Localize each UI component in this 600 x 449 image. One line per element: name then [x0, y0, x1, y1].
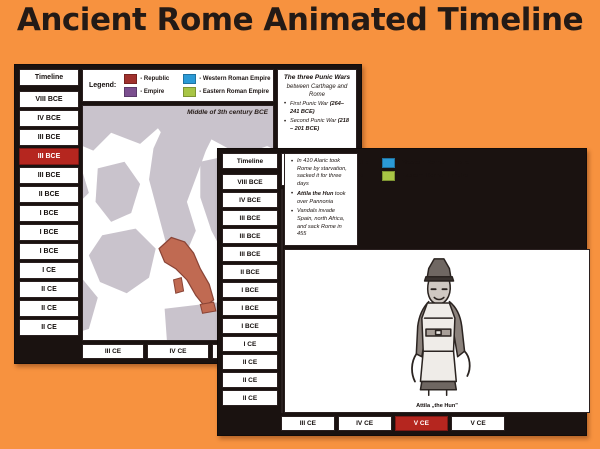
legend-item-empire: - Empire — [124, 87, 169, 97]
back-legend: Legend: - Republic - Empire — [82, 69, 274, 102]
back-note-text: First Punic War — [290, 101, 330, 107]
legend-swatch-empire — [124, 87, 137, 97]
back-timeline-chip[interactable]: III BCE — [19, 167, 79, 184]
back-note-text: Second Punic War — [290, 118, 338, 124]
back-timeline-chip[interactable]: VIII BCE — [19, 91, 79, 108]
back-legend-groups: - Republic - Empire - Western Roman Empi… — [124, 74, 270, 97]
front-axis-row: III CEIV CEV CEV CE — [281, 416, 582, 431]
front-note-bold: Attila the Hun — [297, 191, 333, 197]
back-timeline-chip[interactable]: IV BCE — [19, 110, 79, 127]
front-axis-chip[interactable]: IV CE — [338, 416, 392, 431]
back-timeline-chip-active[interactable]: III BCE — [19, 148, 79, 165]
front-timeline-chip[interactable]: III BCE — [222, 210, 278, 226]
front-timeline-chip[interactable]: II CE — [222, 390, 278, 406]
attila-portrait-icon — [287, 252, 587, 401]
front-map-panel[interactable]: First half of the 5th century — [281, 189, 283, 413]
front-right-column: In 410 Alaric took Rome by starvation, s… — [284, 153, 590, 413]
front-axis-chip[interactable]: III CE — [281, 416, 335, 431]
front-notes-panel: In 410 Alaric took Rome by starvation, s… — [284, 153, 358, 246]
slide-front[interactable]: Timeline VIII BCEIV BCEIII BCEIII BCEIII… — [217, 148, 587, 436]
front-upper-area: Legend: - Republic - Empire — [281, 153, 582, 413]
front-timeline-chip[interactable]: I BCE — [222, 300, 278, 316]
back-axis-chip[interactable]: IV CE — [147, 344, 209, 359]
back-legend-group-left: - Republic - Empire — [124, 74, 169, 97]
back-timeline-list: VIII BCEIV BCEIII BCEIII BCEIII BCEII BC… — [19, 91, 79, 336]
back-timeline-chip[interactable]: I BCE — [19, 205, 79, 222]
back-notes-heading: The three Punic Wars — [283, 74, 351, 83]
front-portrait-box: Attila „the Hun" — [284, 249, 590, 413]
back-map-caption: Middle of 3th century BCE — [187, 109, 268, 116]
back-legend-title: Legend: — [89, 82, 116, 89]
back-axis-chip[interactable]: III CE — [82, 344, 144, 359]
front-timeline-chip[interactable]: II CE — [222, 354, 278, 370]
back-notes-subheading: between Carthage and Rome — [283, 83, 351, 99]
front-timeline-chip[interactable]: VIII BCE — [222, 174, 278, 190]
back-timeline-chip[interactable]: II CE — [19, 319, 79, 336]
front-note-text: In 410 Alaric took Rome by starvation, s… — [297, 158, 347, 187]
front-timeline-header: Timeline — [222, 153, 278, 169]
legend-item-republic: - Republic — [124, 74, 169, 84]
front-note-item: Attila the Hun took over Pannonia — [297, 191, 352, 206]
back-note-item: First Punic War (264– 241 BCE) — [290, 101, 351, 116]
front-timeline-chip[interactable]: II BCE — [222, 264, 278, 280]
back-timeline-header: Timeline — [19, 69, 79, 86]
front-timeline-chip[interactable]: I BCE — [222, 318, 278, 334]
front-axis-chip[interactable]: V CE — [451, 416, 505, 431]
front-axis-chip-active[interactable]: V CE — [395, 416, 449, 431]
front-timeline-chip[interactable]: II CE — [222, 372, 278, 388]
back-notes-list: First Punic War (264– 241 BCE) Second Pu… — [283, 101, 351, 134]
back-timeline-chip[interactable]: I BCE — [19, 243, 79, 260]
legend-item-eastern-roman-empire: - Eastern Roman Empire — [183, 87, 270, 97]
back-timeline-chip[interactable]: I BCE — [19, 224, 79, 241]
front-portrait-caption: Attila „the Hun" — [416, 401, 458, 410]
legend-label-eastern-roman-empire: - Eastern Roman Empire — [199, 89, 269, 95]
legend-swatch-eastern-roman-empire — [183, 87, 196, 97]
legend-label-western-roman-empire: - Western Roman Empire — [199, 76, 270, 82]
legend-label-republic: - Republic — [140, 76, 169, 82]
front-timeline-chip[interactable]: III BCE — [222, 228, 278, 244]
legend-swatch-western-roman-empire — [183, 74, 196, 84]
front-notes-list: In 410 Alaric took Rome by starvation, s… — [290, 158, 352, 239]
front-timeline-chip[interactable]: III BCE — [222, 246, 278, 262]
front-timeline-list: VIII BCEIV BCEIII BCEIII BCEIII BCEII BC… — [222, 174, 278, 406]
front-axis-chips: III CEIV CEV CEV CE — [281, 416, 505, 431]
front-timeline-chip[interactable]: I BCE — [222, 282, 278, 298]
front-note-item: In 410 Alaric took Rome by starvation, s… — [297, 158, 352, 189]
legend-label-empire: - Empire — [140, 89, 164, 95]
page-title: Ancient Rome Animated Timeline — [0, 2, 600, 38]
front-slide-body: Legend: - Republic - Empire — [281, 153, 582, 431]
front-note-item: Vandals invade Spain, north Africa, and … — [297, 208, 352, 239]
legend-item-western-roman-empire: - Western Roman Empire — [183, 74, 270, 84]
back-timeline-chip[interactable]: III BCE — [19, 129, 79, 146]
legend-swatch-republic — [124, 74, 137, 84]
back-timeline-chip[interactable]: II CE — [19, 281, 79, 298]
back-timeline-chip[interactable]: II CE — [19, 300, 79, 317]
front-note-text: Vandals invade Spain, north Africa, and … — [297, 208, 344, 237]
front-timeline-column: Timeline VIII BCEIV BCEIII BCEIII BCEIII… — [222, 153, 278, 431]
front-timeline-chip[interactable]: IV BCE — [222, 192, 278, 208]
front-timeline-chip[interactable]: I CE — [222, 336, 278, 352]
back-timeline-column: Timeline VIII BCEIV BCEIII BCEIII BCEIII… — [19, 69, 79, 359]
back-legend-group-right: - Western Roman Empire - Eastern Roman E… — [183, 74, 270, 97]
front-axis-spacer — [508, 416, 582, 431]
back-timeline-chip[interactable]: I CE — [19, 262, 79, 279]
back-note-item: Second Punic War (218 – 201 BCE) — [290, 118, 351, 133]
back-timeline-chip[interactable]: II BCE — [19, 186, 79, 203]
